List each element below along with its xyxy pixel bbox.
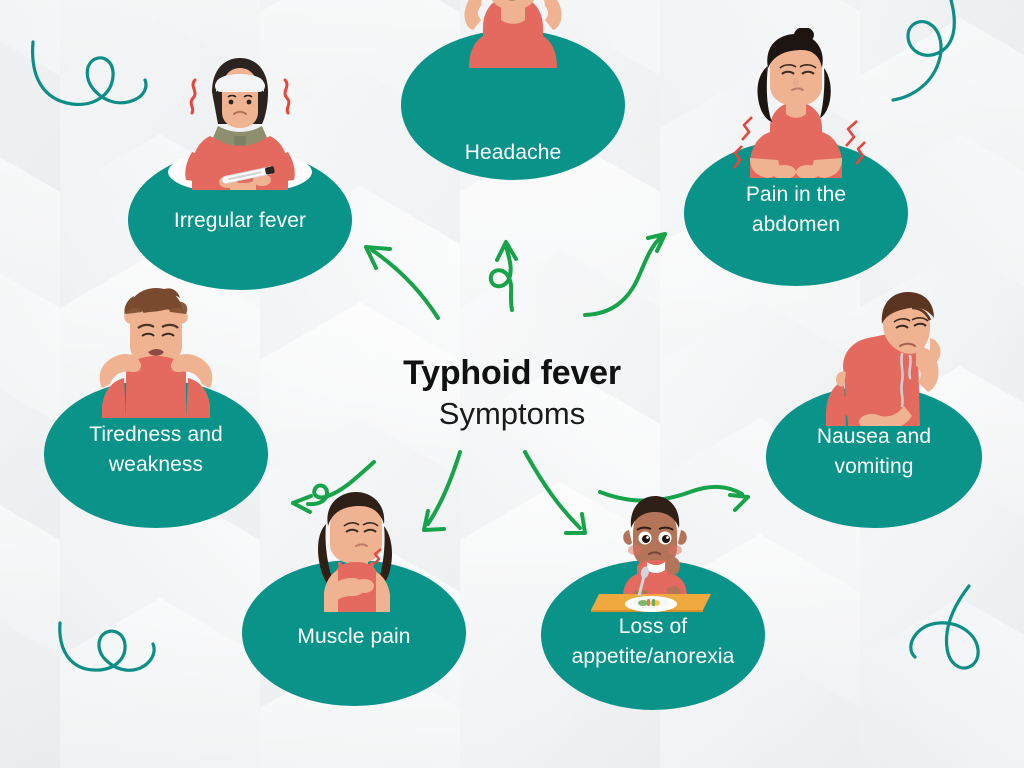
symptom-node-irregular-fever[interactable]: Irregular fever: [128, 150, 352, 290]
page-subtitle: Symptoms: [312, 394, 712, 434]
illustration-man-holding-head-in-pain: [423, 0, 603, 68]
infographic-canvas: Irregular fever: [0, 0, 1024, 768]
symptom-node-pain-in-the-abdomen[interactable]: Pain in the abdomen: [684, 140, 908, 286]
illustration-tired-man-hands-on-head: [66, 278, 246, 418]
illustration-sick-person-with-thermometer: [150, 40, 330, 190]
symptom-node-loss-of-appetite[interactable]: Loss of appetite/anorexia: [541, 560, 765, 710]
symptom-node-muscle-pain[interactable]: Muscle pain: [242, 560, 466, 706]
arrow-to-irregular-fever: [366, 247, 438, 318]
illustration-woman-holding-stomach: [706, 28, 886, 178]
arrow-to-headache: [491, 242, 516, 310]
page-title: Typhoid fever: [312, 352, 712, 394]
symptom-node-tiredness-and-weakness[interactable]: Tiredness and weakness: [44, 380, 268, 528]
illustration-woman-holding-sore-shoulder: [264, 482, 444, 612]
center-title-block: Typhoid fever Symptoms: [312, 352, 712, 434]
symptom-node-headache[interactable]: Headache: [401, 30, 625, 180]
symptom-node-nausea-and-vomiting[interactable]: Nausea and vomiting: [766, 386, 982, 528]
illustration-child-refusing-plate-of-food: [563, 482, 743, 612]
arrow-to-pain-in-the-abdomen: [585, 234, 665, 315]
illustration-man-nauseated-leaning-forward: [784, 276, 964, 426]
